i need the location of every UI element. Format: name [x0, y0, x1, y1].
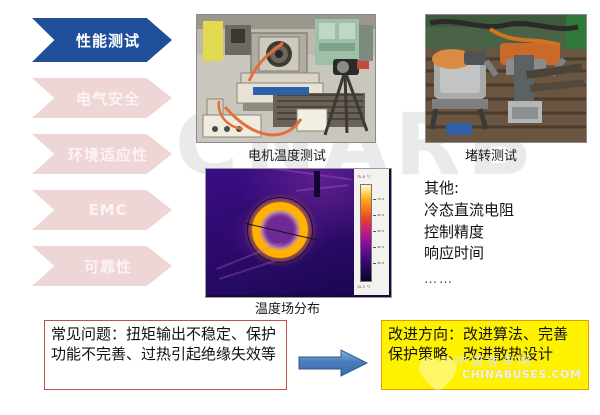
colorbar-tick [373, 215, 376, 216]
nav-item-performance-test[interactable]: 性能测试 [32, 18, 172, 62]
test-category-nav: 性能测试 电气安全 环境适应性 EMC 可靠性 [32, 18, 172, 302]
colorbar-tick-label: 30.0 [377, 261, 384, 265]
colorbar-tick [373, 247, 376, 248]
thermal-map [206, 169, 354, 295]
nav-item-emc[interactable]: EMC [32, 190, 172, 230]
other-test-item: 冷态直流电阻 [424, 200, 514, 222]
nav-item-electrical-safety[interactable]: 电气安全 [32, 78, 172, 118]
colorbar-tick-label: 50.0 [377, 229, 384, 233]
transition-arrow-icon [297, 348, 369, 378]
stall-photo-graphic [426, 15, 586, 142]
other-test-item: 响应时间 [424, 243, 514, 265]
other-tests-list: 其他: 冷态直流电阻 控制精度 响应时间 …… [424, 178, 514, 290]
thermal-field-image: 75.6 °C 70.0 60.0 50.0 40.0 30.0 14.3 °C [205, 168, 392, 298]
colorbar-max-label: 75.6 °C [357, 175, 370, 179]
motor-temperature-test-photo [196, 14, 376, 143]
colorbar-tick-label: 40.0 [377, 245, 384, 249]
other-tests-ellipsis: …… [424, 265, 514, 290]
other-tests-title: 其他: [424, 178, 514, 200]
nav-item-label: EMC [88, 201, 127, 219]
thermal-dark-bar [314, 171, 320, 197]
motor-temp-test-caption: 电机温度测试 [248, 145, 326, 164]
colorbar-tick [373, 231, 376, 232]
thermal-field-caption: 温度场分布 [255, 298, 320, 317]
thermal-colorbar-panel: 75.6 °C 70.0 60.0 50.0 40.0 30.0 14.3 °C [354, 169, 389, 295]
common-problems-box: 常见问题：扭矩输出不稳定、保护功能不完善、过热引起绝缘失效等 [44, 320, 287, 390]
other-test-item: 控制精度 [424, 222, 514, 244]
colorbar-min-label: 14.3 °C [357, 285, 370, 289]
stall-test-photo [425, 14, 587, 143]
nav-item-label: 性能测试 [76, 30, 140, 51]
slide-canvas: CNARB 性能测试 电气安全 环境适应性 EMC 可靠性 [0, 0, 600, 415]
thermal-streak [272, 169, 351, 181]
colorbar-gradient [360, 184, 372, 282]
colorbar-tick-label: 60.0 [377, 213, 384, 217]
nav-item-reliability[interactable]: 可靠性 [32, 246, 172, 286]
colorbar-tick [373, 263, 376, 264]
improvement-direction-box: 改进方向：改进算法、完善保护策略、改进散热设计 [381, 320, 589, 390]
dyno-photo-graphic [197, 15, 375, 142]
nav-item-label: 电气安全 [76, 88, 140, 109]
nav-item-environmental-adaptability[interactable]: 环境适应性 [32, 134, 172, 174]
colorbar-tick [373, 199, 376, 200]
stall-test-caption: 堵转测试 [465, 145, 517, 164]
thermal-streak [296, 184, 348, 191]
nav-item-label: 可靠性 [84, 256, 132, 277]
nav-item-label: 环境适应性 [68, 144, 148, 165]
colorbar-tick-label: 70.0 [377, 197, 384, 201]
